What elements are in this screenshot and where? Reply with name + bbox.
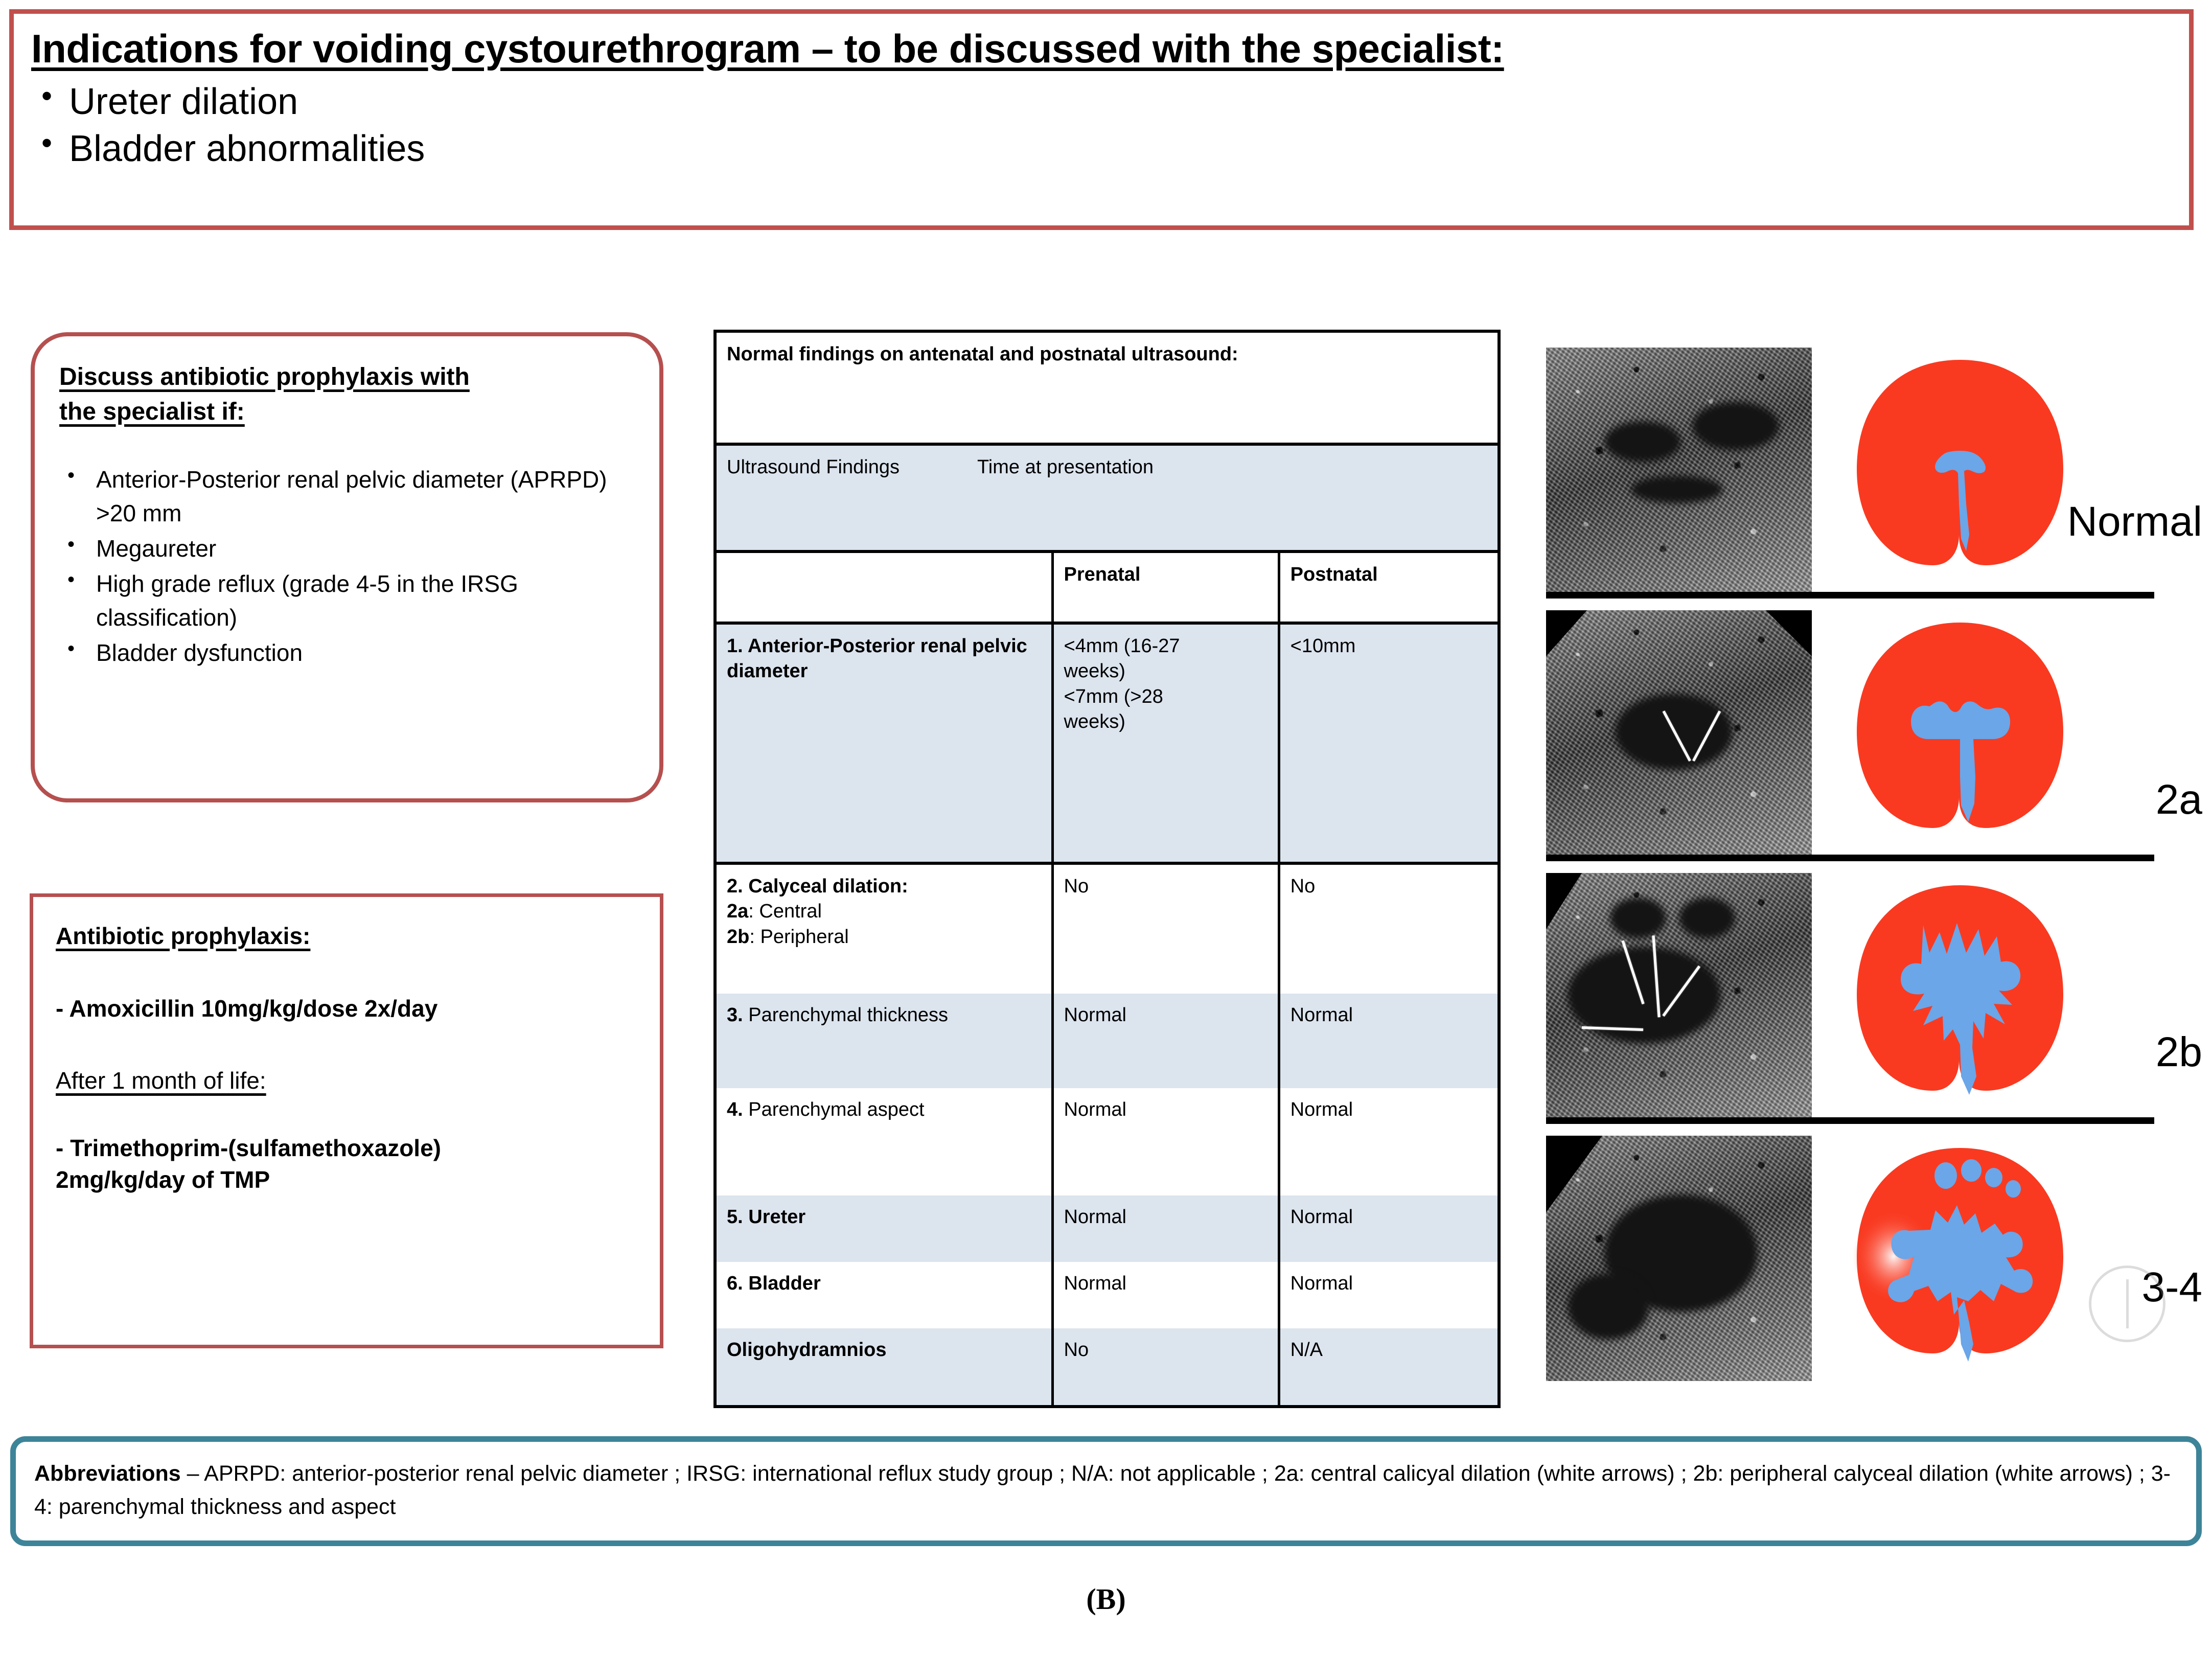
row-label-parenchymal-thickness: 3. Parenchymal thickness	[717, 994, 1052, 1088]
list-item: Anterior-Posterior renal pelvic diameter…	[59, 463, 639, 530]
row-sublabel-2b-text: : Peripheral	[749, 926, 848, 948]
abbreviations-text: Abbreviations – APRPD: anterior-posterio…	[34, 1457, 2179, 1524]
cell-postnatal-parenchymal-aspect: Normal	[1279, 1088, 1497, 1195]
list-item: High grade reflux (grade 4-5 in the IRSG…	[59, 567, 639, 634]
table-title-row: Normal findings on antenatal and postnat…	[717, 333, 1497, 444]
table-row: Oligohydramnios No N/A	[717, 1328, 1497, 1405]
ultrasound-2a-image	[1546, 610, 1812, 856]
row-label-aprpd: 1. Anterior-Posterior renal pelvic diame…	[717, 623, 1052, 863]
watermark-icon	[2089, 1266, 2165, 1342]
kidney-parenchymal-icon	[1832, 1139, 2088, 1379]
row-sublabel-2a-text: : Central	[748, 901, 822, 922]
value-line: weeks)	[1064, 711, 1125, 732]
cell-postnatal-bladder: Normal	[1279, 1262, 1497, 1328]
row-label-text: Parenchymal aspect	[743, 1099, 925, 1120]
kidney-peripheral-dilation-icon	[1832, 876, 2088, 1116]
row-label-bladder: 6. Bladder	[717, 1262, 1052, 1328]
abbreviations-lead: Abbreviations	[34, 1461, 181, 1486]
ultrasound-2b-image	[1546, 873, 1812, 1118]
table-subheader-cell: Ultrasound Findings Time at presentation	[717, 444, 1497, 551]
value-line: <4mm (16-27	[1064, 635, 1180, 657]
table-subheader-row: Ultrasound Findings Time at presentation	[717, 444, 1497, 551]
column-header-prenatal: Prenatal	[1052, 551, 1279, 623]
table-row: 4. Parenchymal aspect Normal Normal	[717, 1088, 1497, 1195]
cell-postnatal-parenchymal-thickness: Normal	[1279, 994, 1497, 1088]
antibiotic-prophylaxis-box: Antibiotic prophylaxis: - Amoxicillin 10…	[30, 893, 663, 1348]
list-item: Megaureter	[59, 532, 639, 565]
cell-prenatal-oligohydramnios: No	[1052, 1328, 1279, 1405]
abbreviations-body: – APRPD: anterior-posterior renal pelvic…	[34, 1461, 2171, 1519]
discuss-criteria-list: Anterior-Posterior renal pelvic diameter…	[59, 463, 639, 670]
abbreviations-box: Abbreviations – APRPD: anterior-posterio…	[10, 1436, 2202, 1546]
after-one-month-subheading: After 1 month of life:	[56, 1065, 644, 1097]
figure-label-2b: 2b	[2156, 1031, 2202, 1073]
row-number: 3.	[727, 1004, 743, 1026]
row-number: 4.	[727, 1099, 743, 1120]
table-row: 2. Calyceal dilation: 2a: Central 2b: Pe…	[717, 863, 1497, 994]
column-header-postnatal: Postnatal	[1279, 551, 1497, 623]
row-sublabel-2b: 2b	[727, 926, 749, 948]
ultrasound-normal-image	[1546, 348, 1812, 593]
column-header-blank	[717, 551, 1052, 623]
figure-row-3-4: 3-4	[1546, 1136, 2205, 1391]
cell-prenatal-ureter: Normal	[1052, 1195, 1279, 1262]
indications-bullet-list: Ureter dilation Bladder abnormalities	[31, 78, 2172, 172]
spacer	[56, 1097, 644, 1133]
table-row: 3. Parenchymal thickness Normal Normal	[717, 994, 1497, 1088]
normal-findings-table-container: Normal findings on antenatal and postnat…	[713, 330, 1501, 1408]
table-row: 1. Anterior-Posterior renal pelvic diame…	[717, 623, 1497, 863]
cell-prenatal-calyceal: No	[1052, 863, 1279, 994]
row-label-calyceal-dilation: 2. Calyceal dilation: 2a: Central 2b: Pe…	[717, 863, 1052, 994]
ultrasound-3-4-image	[1546, 1136, 1812, 1381]
figure-row-2b: 2b	[1546, 873, 2205, 1129]
discuss-heading-line-2: the specialist if:	[59, 398, 245, 425]
spacer	[56, 952, 644, 993]
column-header-ultrasound-findings: Ultrasound Findings	[727, 455, 977, 480]
cell-postnatal-aprpd: <10mm	[1279, 623, 1497, 863]
table-column-header-row: Prenatal Postnatal	[717, 551, 1497, 623]
list-item: Ureter dilation	[31, 78, 2172, 125]
spacer	[56, 1024, 644, 1065]
page-title: Indications for voiding cystourethrogram…	[31, 27, 2172, 71]
table-title: Normal findings on antenatal and postnat…	[717, 333, 1497, 444]
figure-row-normal: Normal	[1546, 348, 2205, 603]
antibiotic-box-heading: Antibiotic prophylaxis:	[56, 921, 644, 952]
discuss-heading-line-1: Discuss antibiotic prophylaxis with	[59, 363, 470, 390]
cell-prenatal-parenchymal-thickness: Normal	[1052, 994, 1279, 1088]
trimethoprim-line-2: 2mg/kg/day of TMP	[56, 1164, 644, 1196]
row-label-parenchymal-aspect: 4. Parenchymal aspect	[717, 1088, 1052, 1195]
kidney-normal-icon	[1832, 351, 2088, 591]
value-line: <7mm (>28	[1064, 686, 1163, 707]
indications-title-box: Indications for voiding cystourethrogram…	[9, 9, 2194, 230]
discuss-prophylaxis-box: Discuss antibiotic prophylaxis with the …	[31, 332, 663, 802]
list-item: Bladder abnormalities	[31, 125, 2172, 172]
row-label-text: Parenchymal thickness	[743, 1004, 948, 1026]
kidney-figure-panel: Normal 2a	[1546, 348, 2205, 1400]
column-header-time-at-presentation: Time at presentation	[977, 455, 1154, 480]
figure-row-2a: 2a	[1546, 610, 2205, 866]
row-label-text: . Anterior-Posterior renal pelvic diamet…	[727, 635, 1027, 682]
list-item: Bladder dysfunction	[59, 636, 639, 670]
table-row: 5. Ureter Normal Normal	[717, 1195, 1497, 1262]
cell-postnatal-calyceal: No	[1279, 863, 1497, 994]
amoxicillin-dose-line: - Amoxicillin 10mg/kg/dose 2x/day	[56, 993, 644, 1025]
table-row: 6. Bladder Normal Normal	[717, 1262, 1497, 1328]
figure-label-normal: Normal	[2067, 501, 2202, 543]
cell-prenatal-parenchymal-aspect: Normal	[1052, 1088, 1279, 1195]
figure-label-2a: 2a	[2156, 779, 2202, 821]
row-label-text: 2. Calyceal dilation:	[727, 876, 908, 897]
cell-postnatal-oligohydramnios: N/A	[1279, 1328, 1497, 1405]
cell-prenatal-aprpd: <4mm (16-27 weeks) <7mm (>28 weeks)	[1052, 623, 1279, 863]
value-line: weeks)	[1064, 660, 1125, 682]
row-label-ureter: 5. Ureter	[717, 1195, 1052, 1262]
cell-postnatal-ureter: Normal	[1279, 1195, 1497, 1262]
kidney-central-dilation-icon	[1832, 613, 2088, 854]
row-sublabel-2a: 2a	[727, 901, 748, 922]
row-number: 1	[727, 635, 738, 657]
cell-prenatal-bladder: Normal	[1052, 1262, 1279, 1328]
row-label-oligohydramnios: Oligohydramnios	[717, 1328, 1052, 1405]
normal-findings-table: Normal findings on antenatal and postnat…	[717, 333, 1497, 1405]
discuss-box-heading: Discuss antibiotic prophylaxis with the …	[59, 360, 639, 429]
trimethoprim-line-1: - Trimethoprim-(sulfamethoxazole)	[56, 1133, 644, 1164]
panel-letter: (B)	[0, 1582, 2212, 1616]
